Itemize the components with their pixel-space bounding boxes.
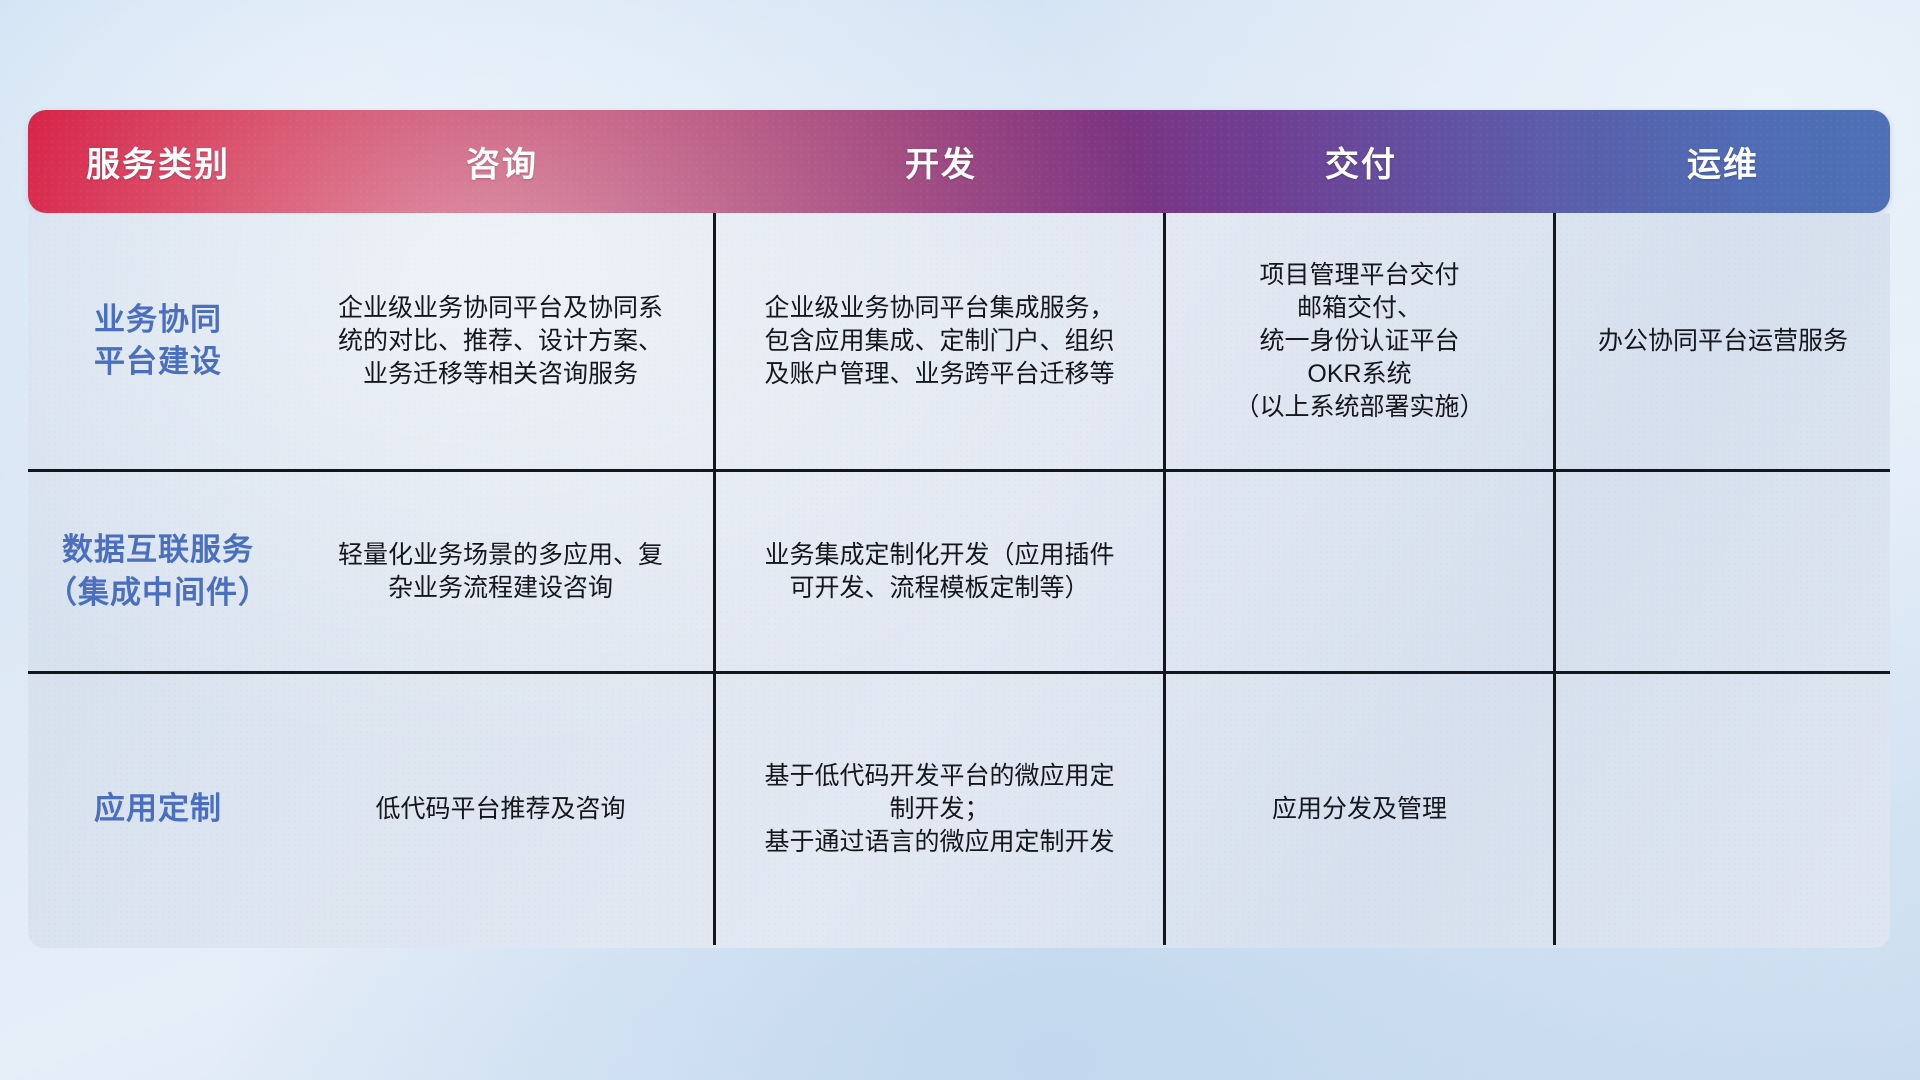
cell-development-row1: 企业级业务协同平台集成服务， 包含应用集成、定制门户、组织 及账户管理、业务跨平… (716, 213, 1166, 469)
cell-development-row2: 业务集成定制化开发（应用插件 可开发、流程模板定制等） (716, 472, 1166, 671)
table-row: 业务协同 平台建设 企业级业务协同平台及协同系 统的对比、推荐、设计方案、 业务… (28, 213, 1890, 472)
cell-delivery-row1: 项目管理平台交付 邮箱交付、 统一身份认证平台 OKR系统 （以上系统部署实施） (1166, 213, 1556, 469)
column-header-category: 服务类别 (28, 110, 288, 213)
column-header-consulting: 咨询 (288, 110, 716, 213)
table-row: 应用定制 低代码平台推荐及咨询 基于低代码开发平台的微应用定 制开发； 基于通过… (28, 674, 1890, 945)
table-body: 业务协同 平台建设 企业级业务协同平台及协同系 统的对比、推荐、设计方案、 业务… (28, 213, 1890, 948)
row-label-data-interconnect: 数据互联服务 （集成中间件） (28, 472, 288, 671)
table-header-row: 服务类别 咨询 开发 交付 运维 (28, 110, 1890, 213)
page-canvas: 服务类别 咨询 开发 交付 运维 业务协同 平台建设 企业级业务协同平台及协同系… (0, 0, 1920, 1080)
cell-consulting-row1: 企业级业务协同平台及协同系 统的对比、推荐、设计方案、 业务迁移等相关咨询服务 (288, 213, 716, 469)
column-header-operations: 运维 (1556, 110, 1890, 213)
cell-operations-row1: 办公协同平台运营服务 (1556, 213, 1890, 469)
cell-operations-row3 (1556, 674, 1890, 945)
cell-consulting-row2: 轻量化业务场景的多应用、复 杂业务流程建设咨询 (288, 472, 716, 671)
cell-delivery-row3: 应用分发及管理 (1166, 674, 1556, 945)
row-label-app-customization: 应用定制 (28, 674, 288, 945)
service-category-table: 服务类别 咨询 开发 交付 运维 业务协同 平台建设 企业级业务协同平台及协同系… (28, 110, 1890, 948)
table-row: 数据互联服务 （集成中间件） 轻量化业务场景的多应用、复 杂业务流程建设咨询 业… (28, 472, 1890, 674)
cell-delivery-row2 (1166, 472, 1556, 671)
cell-operations-row2 (1556, 472, 1890, 671)
cell-consulting-row3: 低代码平台推荐及咨询 (288, 674, 716, 945)
column-header-development: 开发 (716, 110, 1166, 213)
cell-development-row3: 基于低代码开发平台的微应用定 制开发； 基于通过语言的微应用定制开发 (716, 674, 1166, 945)
row-label-business-collaboration: 业务协同 平台建设 (28, 213, 288, 469)
column-header-delivery: 交付 (1166, 110, 1556, 213)
